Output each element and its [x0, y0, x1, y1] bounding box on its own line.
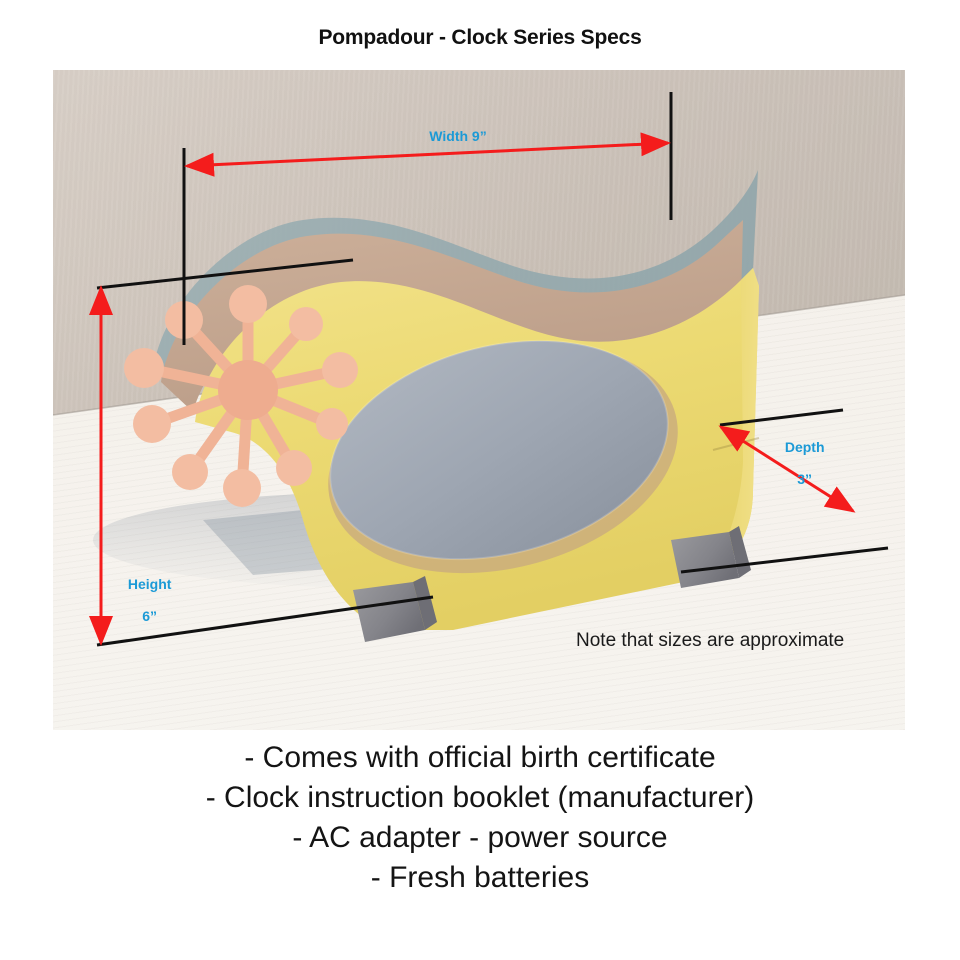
height-value-text: 6” [142, 608, 157, 624]
product-photo: Width 9” Height 6” Depth 3” Note that si… [53, 70, 905, 730]
list-item: - AC adapter - power source [0, 818, 960, 858]
depth-dimension-label: Depth 3” [753, 423, 833, 503]
included-items-list: - Comes with official birth certificate … [0, 738, 960, 898]
depth-value-text: 3” [797, 471, 812, 487]
page-title: Pompadour - Clock Series Specs [0, 26, 960, 50]
width-dimension-label: Width 9” [398, 128, 518, 144]
depth-label-text: Depth [785, 439, 825, 455]
size-note: Note that sizes are approximate [576, 630, 844, 652]
spec-sheet-page: Pompadour - Clock Series Specs [0, 0, 960, 960]
height-label-text: Height [128, 576, 172, 592]
list-item: - Comes with official birth certificate [0, 738, 960, 778]
height-dimension-label: Height 6” [98, 560, 178, 640]
list-item: - Clock instruction booklet (manufacture… [0, 778, 960, 818]
list-item: - Fresh batteries [0, 858, 960, 898]
